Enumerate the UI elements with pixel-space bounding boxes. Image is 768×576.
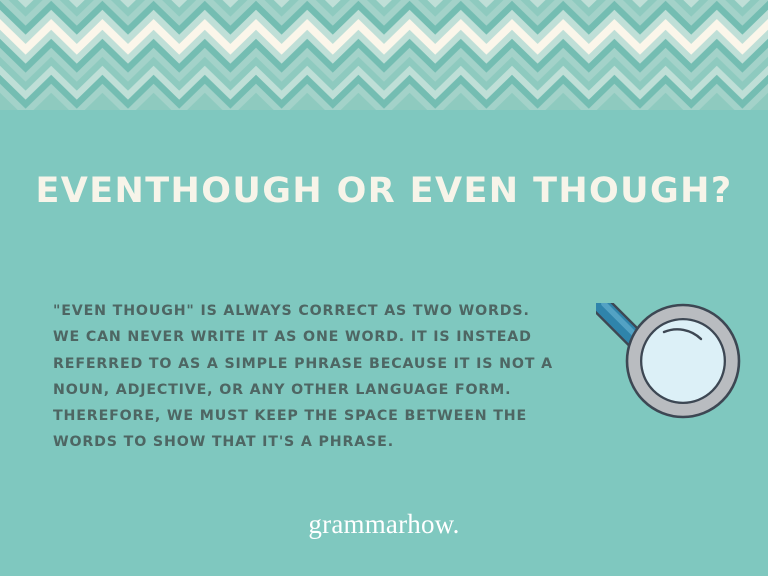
- chevron-zigzag-banner: [0, 0, 768, 110]
- magnifying-glass-icon: [596, 303, 748, 448]
- brand-logo: grammarhow.: [0, 509, 768, 540]
- page-title: EVENTHOUGH OR EVEN THOUGH?: [0, 171, 768, 211]
- infographic-card: EVENTHOUGH OR EVEN THOUGH? "EVEN THOUGH"…: [0, 0, 768, 576]
- body-paragraph: "EVEN THOUGH" IS ALWAYS CORRECT AS TWO W…: [53, 298, 553, 455]
